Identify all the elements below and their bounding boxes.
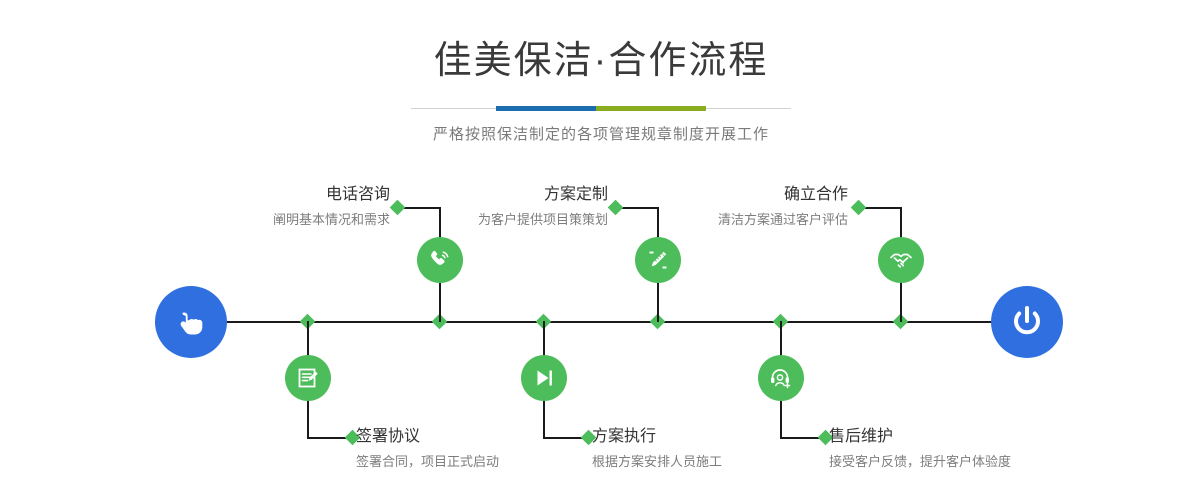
handshake-icon [888,247,914,273]
page-header: 佳美保洁·合作流程 严格按照保洁制定的各项管理规章制度开展工作 [0,0,1202,144]
divider-green-segment [596,106,706,111]
node-icon-6 [758,355,804,401]
title-divider [411,106,791,111]
node-icon-2 [285,355,331,401]
step-label-1: 电话咨询 阐明基本情况和需求 [150,186,390,227]
step-subtitle-3: 为客户提供项目策策划 [370,213,608,227]
step-label-3: 方案定制 为客户提供项目策策划 [370,186,608,227]
power-button-icon [1006,301,1048,343]
step-title-3: 方案定制 [370,186,608,204]
headset-support-icon [768,365,794,391]
page-title: 佳美保洁·合作流程 [0,42,1202,80]
document-edit-icon [295,365,321,391]
phone-call-icon [427,247,453,273]
flow-diagram: 佳美保洁·合作流程 严格按照保洁制定的各项管理规章制度开展工作 [0,0,1202,502]
node-icon-3 [635,237,681,283]
node-icon-4 [521,355,567,401]
step-subtitle-2: 签署合同，项目正式启动 [356,455,616,469]
step-subtitle-5: 清洁方案通过客户评估 [610,213,848,227]
start-endpoint [155,286,227,358]
end-endpoint [991,286,1063,358]
step-title-5: 确立合作 [610,186,848,204]
step-title-6: 售后维护 [829,428,1109,446]
step-title-1: 电话咨询 [150,186,390,204]
step-label-5: 确立合作 清洁方案通过客户评估 [610,186,848,227]
node-icon-1 [417,237,463,283]
step-subtitle-4: 根据方案安排人员施工 [592,455,852,469]
node-icon-5 [878,237,924,283]
step-subtitle-1: 阐明基本情况和需求 [150,213,390,227]
pointing-hand-icon [171,302,211,342]
timeline-axis [155,321,1050,323]
play-skip-icon [531,365,557,391]
pencil-ruler-icon [645,247,671,273]
step-label-4: 方案执行 根据方案安排人员施工 [592,428,852,469]
step-subtitle-6: 接受客户反馈，提升客户体验度 [829,455,1109,469]
step-label-2: 签署协议 签署合同，项目正式启动 [356,428,616,469]
label-marker-5 [851,200,867,216]
step-label-6: 售后维护 接受客户反馈，提升客户体验度 [829,428,1109,469]
divider-blue-segment [496,106,596,111]
page-subtitle: 严格按照保洁制定的各项管理规章制度开展工作 [0,123,1202,144]
